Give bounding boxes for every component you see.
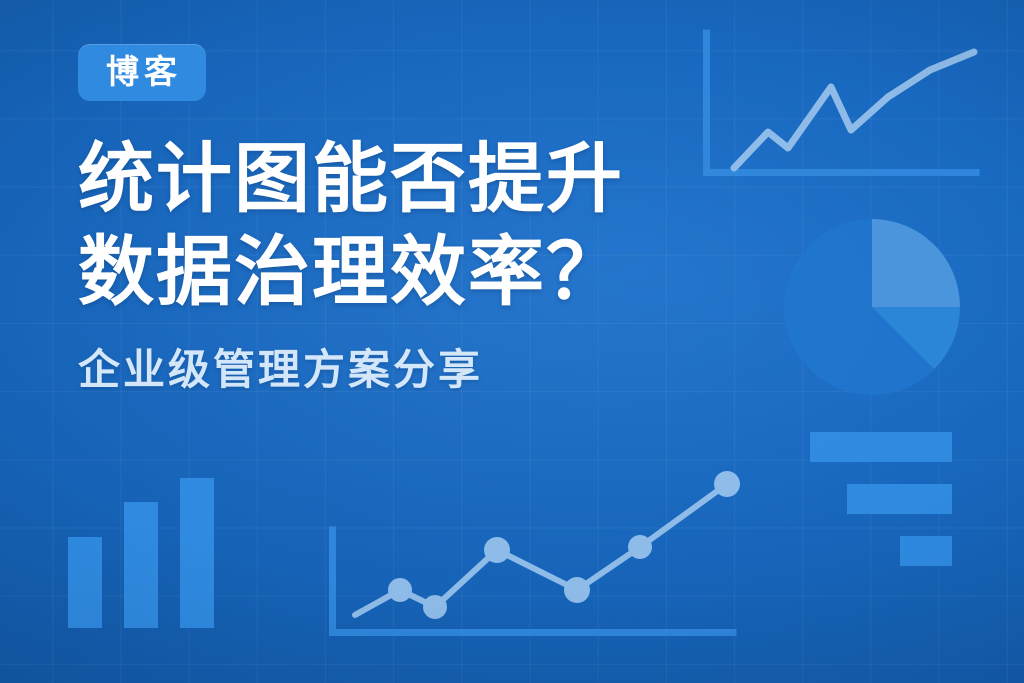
blog-cover-poster: 博客 统计图能否提升 数据治理效率？ 企业级管理方案分享 bbox=[0, 0, 1024, 683]
page-title-line-2: 数据治理效率？ bbox=[78, 227, 758, 320]
poster-text-block: 博客 统计图能否提升 数据治理效率？ 企业级管理方案分享 bbox=[78, 44, 758, 396]
chart-data-points bbox=[388, 471, 740, 619]
data-point bbox=[388, 578, 412, 602]
horizontal-bar-chart-decoration bbox=[800, 428, 1024, 570]
vertical-bar-chart-decoration bbox=[55, 465, 255, 645]
page-subtitle: 企业级管理方案分享 bbox=[78, 345, 758, 395]
page-title-line-1: 统计图能否提升 bbox=[78, 134, 758, 227]
page-title: 统计图能否提升 数据治理效率？ bbox=[78, 134, 758, 319]
hbar-3 bbox=[900, 536, 952, 566]
data-point bbox=[484, 537, 510, 563]
data-point bbox=[423, 595, 447, 619]
category-badge[interactable]: 博客 bbox=[78, 44, 206, 101]
pie-chart-decoration bbox=[782, 218, 962, 396]
vbar-2 bbox=[124, 502, 158, 628]
vbar-1 bbox=[68, 537, 102, 628]
hbar-1 bbox=[810, 432, 952, 462]
data-point bbox=[564, 577, 590, 603]
line-chart-bottom-center-decoration bbox=[315, 462, 755, 657]
chart-line-series bbox=[734, 52, 974, 168]
data-point bbox=[714, 471, 740, 497]
pie-slice-1 bbox=[872, 219, 960, 307]
hbar-2 bbox=[847, 484, 952, 514]
chart-line-series bbox=[355, 484, 727, 615]
data-point bbox=[628, 535, 652, 559]
vbar-3 bbox=[180, 478, 214, 628]
